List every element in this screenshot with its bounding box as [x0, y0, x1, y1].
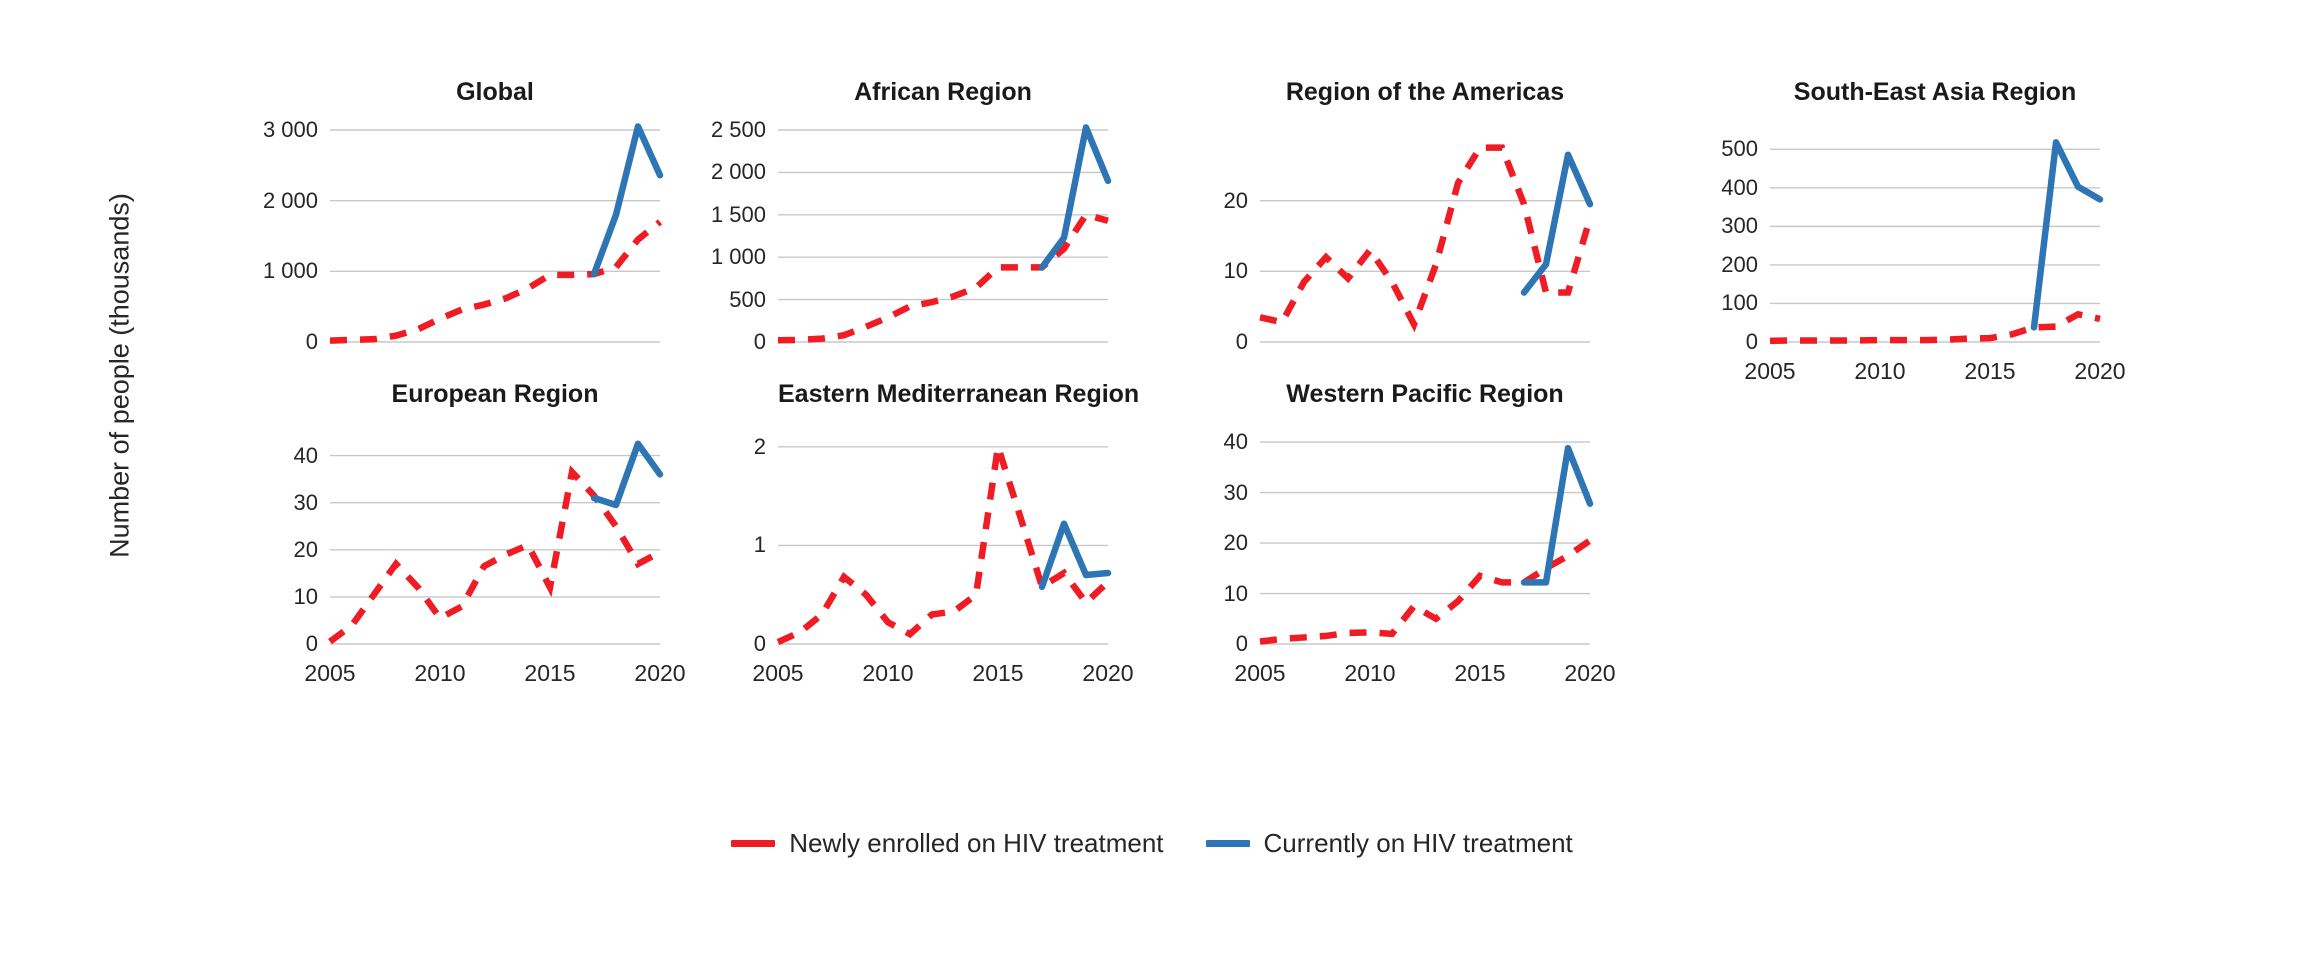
x-tick-label: 2010 [862, 660, 913, 687]
y-tick-label: 10 [180, 584, 318, 610]
series-line-newly-enrolled [330, 472, 660, 642]
series-line-newly-enrolled [1260, 148, 1590, 325]
plot-area-global [330, 130, 660, 342]
chart-legend: Newly enrolled on HIV treatment Currentl… [0, 828, 2304, 859]
y-tick-label: 1 500 [640, 202, 766, 228]
chart-panel-global: Global01 0002 0003 000 [180, 78, 690, 412]
x-tick-label: 2015 [972, 660, 1023, 687]
x-tick-label: 2020 [1564, 660, 1615, 687]
panel-title-emro: Eastern Mediterranean Region [778, 380, 1108, 409]
legend-item-newly-enrolled: Newly enrolled on HIV treatment [731, 828, 1163, 859]
plot-area-sea [1770, 130, 2100, 342]
panel-title-wpro: Western Pacific Region [1260, 380, 1590, 409]
y-tick-label: 40 [180, 443, 318, 469]
y-tick-label: 400 [1590, 175, 1758, 201]
chart-panel-emro: Eastern Mediterranean Region012200520102… [640, 380, 1138, 714]
y-tick-label: 500 [1590, 136, 1758, 162]
panel-title-african: African Region [778, 78, 1108, 107]
y-tick-label: 0 [640, 329, 766, 355]
legend-swatch-currently-on-icon [1206, 840, 1250, 847]
plot-area-african [778, 130, 1108, 342]
x-tick-label: 2005 [752, 660, 803, 687]
x-tick-label: 2010 [414, 660, 465, 687]
legend-label-currently-on: Currently on HIV treatment [1264, 828, 1573, 859]
panel-title-americas: Region of the Americas [1260, 78, 1590, 107]
y-tick-label: 1 000 [180, 258, 318, 284]
chart-panel-african: African Region05001 0001 5002 0002 500 [640, 78, 1138, 412]
y-tick-label: 2 000 [640, 159, 766, 185]
y-tick-label: 0 [1110, 329, 1248, 355]
x-tick-label: 2005 [1234, 660, 1285, 687]
legend-label-newly-enrolled: Newly enrolled on HIV treatment [789, 828, 1163, 859]
plot-area-wpro [1260, 432, 1590, 644]
y-tick-label: 200 [1590, 252, 1758, 278]
y-tick-label: 300 [1590, 213, 1758, 239]
y-tick-label: 0 [180, 329, 318, 355]
series-line-currently-on [1042, 127, 1108, 267]
y-tick-label: 0 [1590, 329, 1758, 355]
series-line-newly-enrolled [1260, 541, 1590, 642]
y-tick-label: 40 [1110, 429, 1248, 455]
x-tick-label: 2015 [524, 660, 575, 687]
chart-panel-wpro: Western Pacific Region010203040200520102… [1110, 380, 1620, 714]
series-line-newly-enrolled [1770, 314, 2100, 341]
y-tick-label: 1 000 [640, 244, 766, 270]
chart-panel-european: European Region0102030402005201020152020 [180, 380, 690, 714]
x-tick-label: 2020 [2074, 358, 2125, 385]
x-tick-label: 2010 [1344, 660, 1395, 687]
y-tick-label: 30 [1110, 480, 1248, 506]
y-tick-label: 0 [180, 631, 318, 657]
small-multiples-chart-figure: Number of people (thousands) Global01 00… [0, 0, 2304, 960]
legend-item-currently-on: Currently on HIV treatment [1206, 828, 1573, 859]
x-tick-label: 2015 [1964, 358, 2015, 385]
figure-y-axis-title: Number of people (thousands) [105, 116, 136, 636]
legend-swatch-newly-enrolled-icon [731, 840, 775, 847]
y-tick-label: 10 [1110, 581, 1248, 607]
y-tick-label: 2 500 [640, 117, 766, 143]
x-tick-label: 2015 [1454, 660, 1505, 687]
x-tick-label: 2010 [1854, 358, 1905, 385]
panel-title-sea: South-East Asia Region [1770, 78, 2100, 107]
plot-area-americas [1260, 130, 1590, 342]
plot-area-european [330, 432, 660, 644]
y-tick-label: 3 000 [180, 117, 318, 143]
y-tick-label: 30 [180, 490, 318, 516]
y-tick-label: 0 [640, 631, 766, 657]
y-tick-label: 20 [180, 537, 318, 563]
series-line-currently-on [2034, 142, 2100, 327]
panel-title-european: European Region [330, 380, 660, 409]
y-tick-label: 500 [640, 287, 766, 313]
y-tick-label: 0 [1110, 631, 1248, 657]
x-tick-label: 2005 [304, 660, 355, 687]
y-tick-label: 20 [1110, 188, 1248, 214]
panel-title-global: Global [330, 78, 660, 107]
series-line-newly-enrolled [330, 222, 660, 341]
y-tick-label: 1 [640, 532, 766, 558]
series-line-newly-enrolled [778, 215, 1108, 340]
y-tick-label: 2 000 [180, 188, 318, 214]
chart-panel-americas: Region of the Americas01020 [1110, 78, 1620, 412]
y-tick-label: 10 [1110, 258, 1248, 284]
plot-area-emro [778, 432, 1108, 644]
x-tick-label: 2005 [1744, 358, 1795, 385]
y-tick-label: 100 [1590, 290, 1758, 316]
y-tick-label: 20 [1110, 530, 1248, 556]
y-tick-label: 2 [640, 434, 766, 460]
chart-panel-sea: South-East Asia Region010020030040050020… [1590, 78, 2130, 412]
